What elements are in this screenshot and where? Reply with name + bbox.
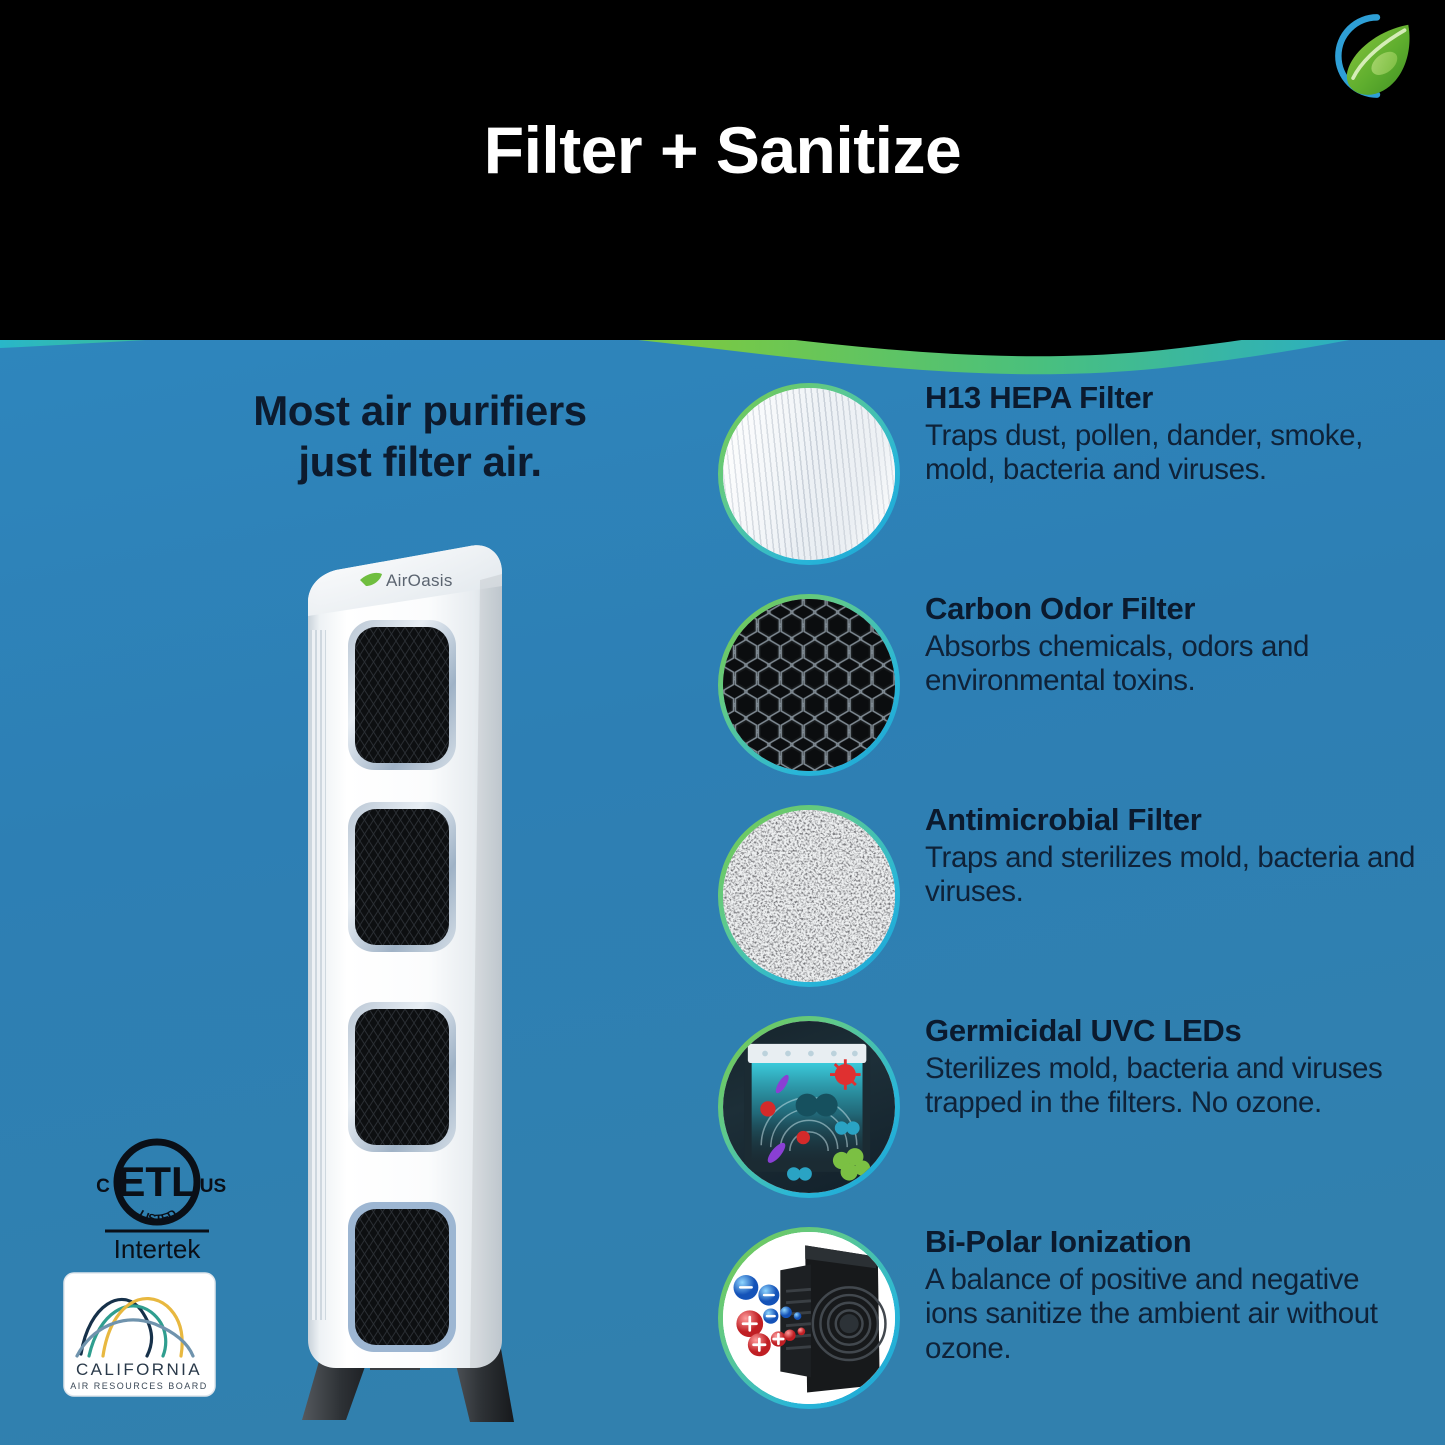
feature-title: Germicidal UVC LEDs [925, 1013, 1418, 1050]
leaf-logo-icon [1331, 10, 1423, 102]
feature-item-uvc: Germicidal UVC LEDs Sterilizes mold, bac… [718, 1011, 1418, 1222]
uvc-led-thumbnail [718, 1016, 900, 1198]
infographic-page: Filter + Sanitize Most air purifiers jus… [0, 0, 1445, 1445]
product-image-air-purifier: AirOasis [270, 540, 550, 1445]
etl-listed-badge: ETL C US LISTED Intertek [72, 1136, 242, 1266]
svg-text:AirOasis: AirOasis [386, 571, 453, 590]
etl-company-text: Intertek [114, 1234, 202, 1264]
etl-right-letter: US [200, 1176, 226, 1197]
feature-title: H13 HEPA Filter [925, 380, 1418, 417]
feature-description: Traps and sterilizes mold, bacteria and … [925, 841, 1418, 911]
hepa-filter-thumbnail [718, 383, 900, 565]
feature-description: Absorbs chemicals, odors and environment… [925, 630, 1418, 700]
left-headline: Most air purifiers just filter air. [180, 385, 660, 487]
headline-line-1: Most air purifiers [180, 385, 660, 436]
headline-line-2: just filter air. [180, 436, 660, 487]
carbon-filter-thumbnail [718, 594, 900, 776]
feature-description: Sterilizes mold, bacteria and viruses tr… [925, 1052, 1418, 1122]
carb-line-1: CALIFORNIA [76, 1360, 202, 1379]
page-title: Filter + Sanitize [0, 112, 1445, 188]
feature-item-antimicrobial: Antimicrobial Filter Traps and sterilize… [718, 800, 1418, 1011]
feature-list: H13 HEPA Filter Traps dust, pollen, dand… [718, 378, 1418, 1433]
feature-description: Traps dust, pollen, dander, smoke, mold,… [925, 419, 1418, 489]
feature-title: Antimicrobial Filter [925, 802, 1418, 839]
carb-line-2: AIR RESOURCES BOARD [70, 1381, 208, 1391]
etl-mark-text: ETL [117, 1158, 196, 1205]
bipolar-ionization-thumbnail [718, 1227, 900, 1409]
california-air-resources-board-badge: CALIFORNIA AIR RESOURCES BOARD [63, 1272, 216, 1397]
feature-description: A balance of positive and negative ions … [925, 1263, 1418, 1367]
feature-title: Carbon Odor Filter [925, 591, 1418, 628]
antimicrobial-filter-thumbnail [718, 805, 900, 987]
feature-item-ionization: Bi-Polar Ionization A balance of positiv… [718, 1222, 1418, 1433]
feature-title: Bi-Polar Ionization [925, 1224, 1418, 1261]
etl-left-letter: C [96, 1176, 110, 1197]
feature-item-hepa: H13 HEPA Filter Traps dust, pollen, dand… [718, 378, 1418, 589]
feature-item-carbon: Carbon Odor Filter Absorbs chemicals, od… [718, 589, 1418, 800]
